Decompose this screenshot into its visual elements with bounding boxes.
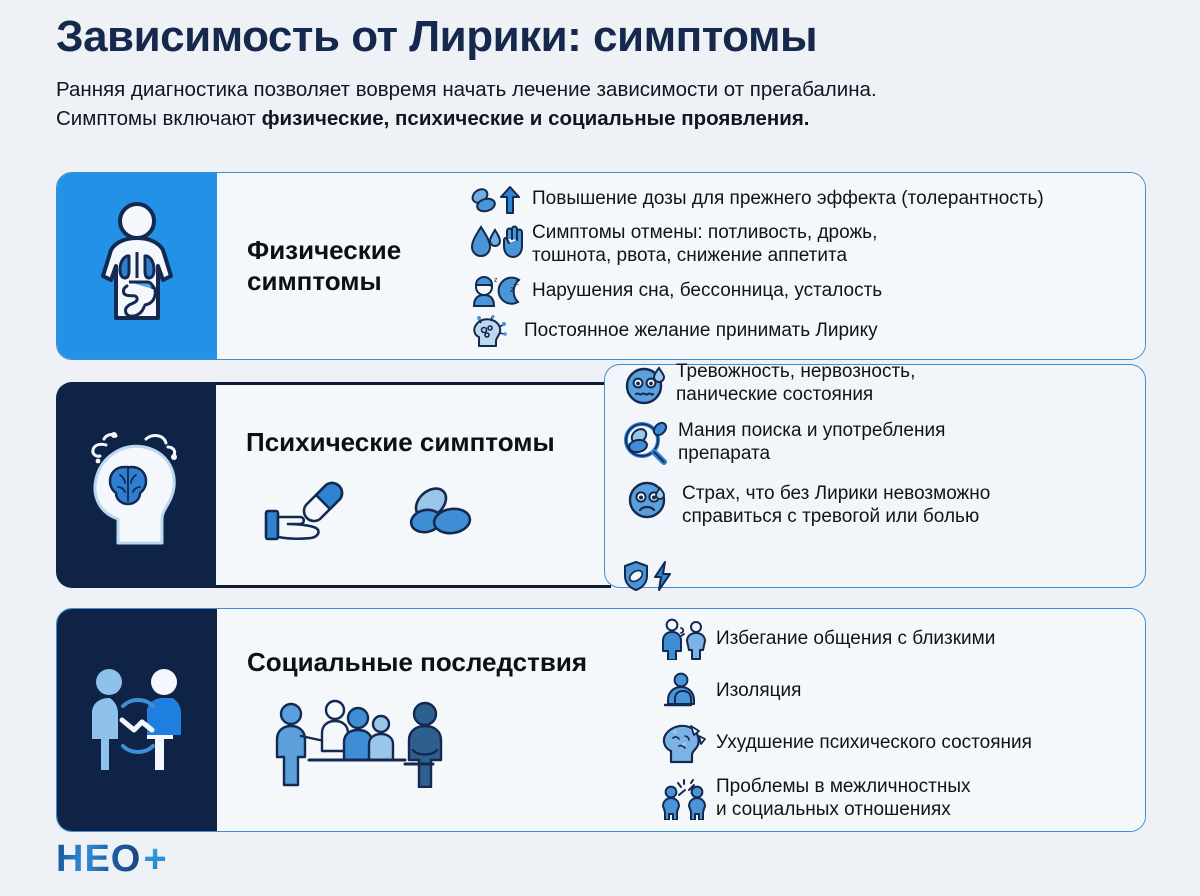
sleepy-face-moon-icon: zz zZ <box>469 274 523 308</box>
subtitle-line-2: Симптомы включают физические, психически… <box>56 104 1200 133</box>
mental-body: Психические симптомы <box>216 382 611 588</box>
list-item-label: Избегание общения с близкими <box>716 628 995 651</box>
two-people-handshake-icon <box>82 664 192 776</box>
mental-icon-panel <box>56 382 216 588</box>
lightning-bolt-icon <box>653 561 673 591</box>
list-item-label: Мания поиска и употребления препарата <box>678 420 945 466</box>
list-item: Изоляция <box>661 672 1032 710</box>
card-social-consequences: Социальные последствия <box>56 608 1146 832</box>
list-item: Тревожность, нервозность, панические сос… <box>623 361 1145 407</box>
social-mid: Социальные последствия <box>217 609 661 831</box>
broken-mind-head-icon <box>661 722 707 764</box>
page-subtitle: Ранняя диагностика позволяет вовремя нач… <box>56 75 1200 133</box>
anxious-face-icon <box>623 362 667 406</box>
svg-text:z: z <box>510 285 514 294</box>
head-brain-icon <box>84 423 188 547</box>
logo-plus-icon: + <box>143 837 166 882</box>
social-body: Избегание общения с близкими Изоляция <box>661 609 1145 831</box>
list-item: Ухудшение психического состояния <box>661 722 1032 764</box>
list-item: Постоянное желание принимать Лирику <box>471 315 1044 347</box>
list-item-label: Нарушения сна, бессонница, усталость <box>532 280 882 303</box>
list-item-label: Тревожность, нервозность, панические сос… <box>676 361 915 407</box>
social-heading: Социальные последствия <box>247 647 661 678</box>
mental-bullets: Тревожность, нервозность, панические сос… <box>623 361 1145 591</box>
logo: НЕО + <box>56 837 167 882</box>
list-item-label: Страх, что без Лирики невозможно справит… <box>682 483 990 529</box>
subtitle-line-1: Ранняя диагностика позволяет вовремя нач… <box>56 75 1200 104</box>
social-icon-panel <box>57 609 217 831</box>
list-item: zz zZ Нарушения сна, бессонница, усталос… <box>469 274 1044 308</box>
group-exclusion-scene-icon <box>265 692 495 788</box>
list-item-label: Проблемы в межличностных и социальных от… <box>716 776 970 822</box>
card-mental-symptoms: Психические симптомы <box>56 382 611 588</box>
list-item: Избегание общения с близкими <box>661 618 1032 660</box>
mental-bullets-panel: Тревожность, нервозность, панические сос… <box>604 364 1146 588</box>
header: Зависимость от Лирики: симптомы Ранняя д… <box>0 0 1200 133</box>
hand-offering-pill-icon <box>264 481 360 543</box>
social-mid-icons <box>265 692 661 793</box>
magnifier-pills-icon <box>623 420 669 466</box>
conflict-people-icon <box>661 778 707 820</box>
svg-text:Z: Z <box>515 280 520 287</box>
pills-up-arrow-icon <box>469 185 523 215</box>
fearful-face-icon <box>627 479 669 521</box>
mental-heading: Психические симптомы <box>246 427 555 458</box>
physical-body: Физические симптомы Повышение дозы для п… <box>217 173 1145 359</box>
list-item-label: Повышение дозы для прежнего эффекта (тол… <box>532 188 1044 211</box>
craving-head-icon <box>471 315 515 347</box>
human-body-organs-icon <box>91 200 183 332</box>
logo-text: НЕО <box>56 838 141 881</box>
physical-heading: Физические симптомы <box>247 235 447 296</box>
pills-cluster-icon <box>406 483 476 541</box>
sweat-drops-hand-icon <box>469 224 523 266</box>
list-item: Повышение дозы для прежнего эффекта (тол… <box>469 185 1044 215</box>
list-item-label: Симптомы отмены: потливость, дрожь, тошн… <box>532 222 877 268</box>
mental-footer-icons <box>623 561 673 591</box>
svg-text:z: z <box>494 277 498 284</box>
avoiding-people-icon <box>661 618 707 660</box>
physical-bullets: Повышение дозы для прежнего эффекта (тол… <box>469 185 1044 348</box>
shield-pill-icon <box>623 561 649 591</box>
page-title: Зависимость от Лирики: симптомы <box>56 12 1200 61</box>
card-physical-symptoms: Физические симптомы Повышение дозы для п… <box>56 172 1146 360</box>
list-item: Симптомы отмены: потливость, дрожь, тошн… <box>469 222 1044 268</box>
list-item: Мания поиска и употребления препарата <box>623 420 1145 466</box>
list-item: Страх, что без Лирики невозможно справит… <box>623 479 1145 591</box>
list-item-label: Изоляция <box>716 680 801 703</box>
mental-mid-icons <box>264 481 476 543</box>
physical-icon-panel <box>57 173 217 359</box>
list-item-label: Постоянное желание принимать Лирику <box>524 320 878 343</box>
social-bullets: Избегание общения с близкими Изоляция <box>661 618 1032 822</box>
subtitle-plain: Симптомы включают <box>56 107 262 130</box>
list-item: Проблемы в межличностных и социальных от… <box>661 776 1032 822</box>
subtitle-bold: физические, психические и социальные про… <box>262 107 810 130</box>
list-item-label: Ухудшение психического состояния <box>716 732 1032 755</box>
isolated-person-icon <box>661 672 707 710</box>
